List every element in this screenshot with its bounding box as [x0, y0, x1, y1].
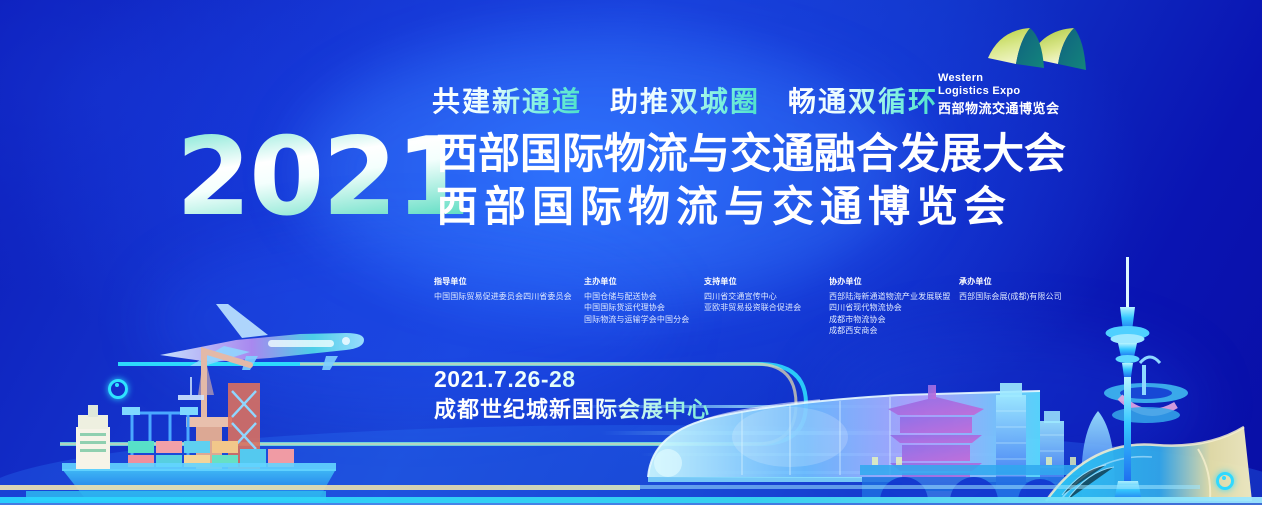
organizer-column-guidance: 指导单位 中国国际贸易促进委员会四川省委员会	[434, 276, 584, 337]
title-line-2: 西部国际物流与交通博览会	[436, 180, 1066, 234]
organizer-list: 指导单位 中国国际贸易促进委员会四川省委员会 主办单位 中国仓储与配送协会 中国…	[434, 276, 1109, 337]
slogan-part-2: 助推双城圈	[610, 80, 760, 120]
organizer-heading: 主办单位	[584, 276, 704, 288]
sky-pavilion-illustration	[1104, 357, 1188, 423]
logo-english-line-1: Western	[938, 72, 1020, 85]
organizer-column-host: 主办单位 中国仓储与配送协会 中国国际货运代理协会 国际物流与运输学会中国分会	[584, 276, 704, 337]
organizer-item: 中国国际贸易促进委员会四川省委员会	[434, 291, 584, 303]
page-title: 西部国际物流与交通融合发展大会 西部国际物流与交通博览会	[436, 128, 1066, 234]
organizer-item: 西部陆海新通道物流产业发展联盟	[829, 291, 959, 303]
organizer-heading: 指导单位	[434, 276, 584, 288]
slogan-part-3: 畅通双循环	[788, 80, 938, 120]
logo-wave-mark-icon	[986, 24, 1088, 76]
organizer-item: 亚欧非贸易投资联合促进会	[704, 302, 829, 314]
event-date: 2021.7.26-28	[434, 364, 710, 394]
route-node-left-icon	[108, 379, 128, 399]
logo-chinese-text: 西部物流交通博览会	[938, 98, 1060, 117]
organizer-item: 西部国际会展(成都)有限公司	[959, 291, 1109, 303]
organizer-item: 中国仓储与配送协会	[584, 291, 704, 303]
organizer-item: 国际物流与运输学会中国分会	[584, 314, 704, 326]
business-jet-illustration	[160, 304, 364, 370]
organizer-heading: 协办单位	[829, 276, 959, 288]
organizer-item: 四川省交通宣传中心	[704, 291, 829, 303]
year-numerals: 2021	[176, 124, 469, 232]
organizer-column-support: 支持单位 四川省交通宣传中心 亚欧非贸易投资联合促进会	[704, 276, 829, 337]
organizer-item: 四川省现代物流协会	[829, 302, 959, 314]
organizer-item: 成都西安商会	[829, 325, 959, 337]
organizer-item: 成都市物流协会	[829, 314, 959, 326]
event-venue: 成都世纪城新国际会展中心	[434, 394, 710, 426]
organizer-item: 中国国际货运代理协会	[584, 302, 704, 314]
logo-english-line-2: Logistics Expo	[938, 85, 1020, 98]
organizer-heading: 支持单位	[704, 276, 829, 288]
organizer-column-undertaker: 承办单位 西部国际会展(成都)有限公司	[959, 276, 1109, 337]
title-line-1: 西部国际物流与交通融合发展大会	[436, 128, 1066, 180]
event-datetime-block: 2021.7.26-28 成都世纪城新国际会展中心	[434, 364, 710, 426]
event-logo: Western Logistics Expo 西部物流交通博览会	[938, 24, 1088, 112]
route-node-right-icon	[1216, 472, 1234, 490]
slogan-part-1: 共建新通道	[432, 80, 582, 120]
poster-canvas: 共建新通道 助推双城圈 畅通双循环 2021 西部国际物流与交通融合发展大会 西…	[0, 0, 1262, 505]
organizer-heading: 承办单位	[959, 276, 1109, 288]
organizer-column-coorganizer: 协办单位 西部陆海新通道物流产业发展联盟 四川省现代物流协会 成都市物流协会 成…	[829, 276, 959, 337]
logo-english-text: Western Logistics Expo	[938, 72, 1020, 98]
